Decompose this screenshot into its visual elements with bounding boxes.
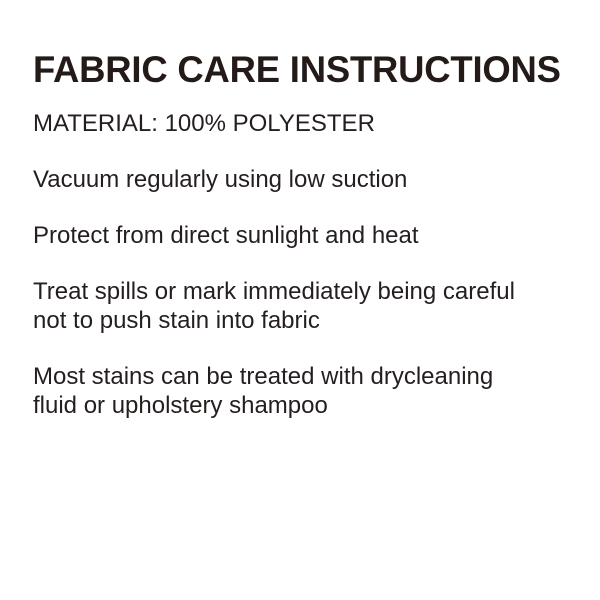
care-instruction-line: Treat spills or mark immediately being c… bbox=[33, 277, 553, 306]
fabric-care-label: FABRIC CARE INSTRUCTIONS MATERIAL: 100% … bbox=[0, 0, 600, 600]
care-instruction-line: Most stains can be treated with dryclean… bbox=[33, 362, 553, 391]
care-instruction-line: Vacuum regularly using low suction bbox=[33, 165, 553, 194]
label-content: FABRIC CARE INSTRUCTIONS MATERIAL: 100% … bbox=[33, 50, 582, 420]
care-instruction-line: fluid or upholstery shampoo bbox=[33, 391, 553, 420]
care-instruction-line: Protect from direct sunlight and heat bbox=[33, 221, 553, 250]
care-instruction-item: Treat spills or mark immediately being c… bbox=[33, 277, 553, 335]
care-instruction-line: not to push stain into fabric bbox=[33, 306, 553, 335]
material-composition-line: MATERIAL: 100% POLYESTER bbox=[33, 109, 582, 138]
care-instruction-item: Most stains can be treated with dryclean… bbox=[33, 362, 553, 420]
page-title: FABRIC CARE INSTRUCTIONS bbox=[33, 50, 574, 90]
care-instruction-item: Protect from direct sunlight and heat bbox=[33, 221, 553, 250]
care-instruction-item: Vacuum regularly using low suction bbox=[33, 165, 553, 194]
care-instruction-list: Vacuum regularly using low suction Prote… bbox=[33, 165, 582, 420]
